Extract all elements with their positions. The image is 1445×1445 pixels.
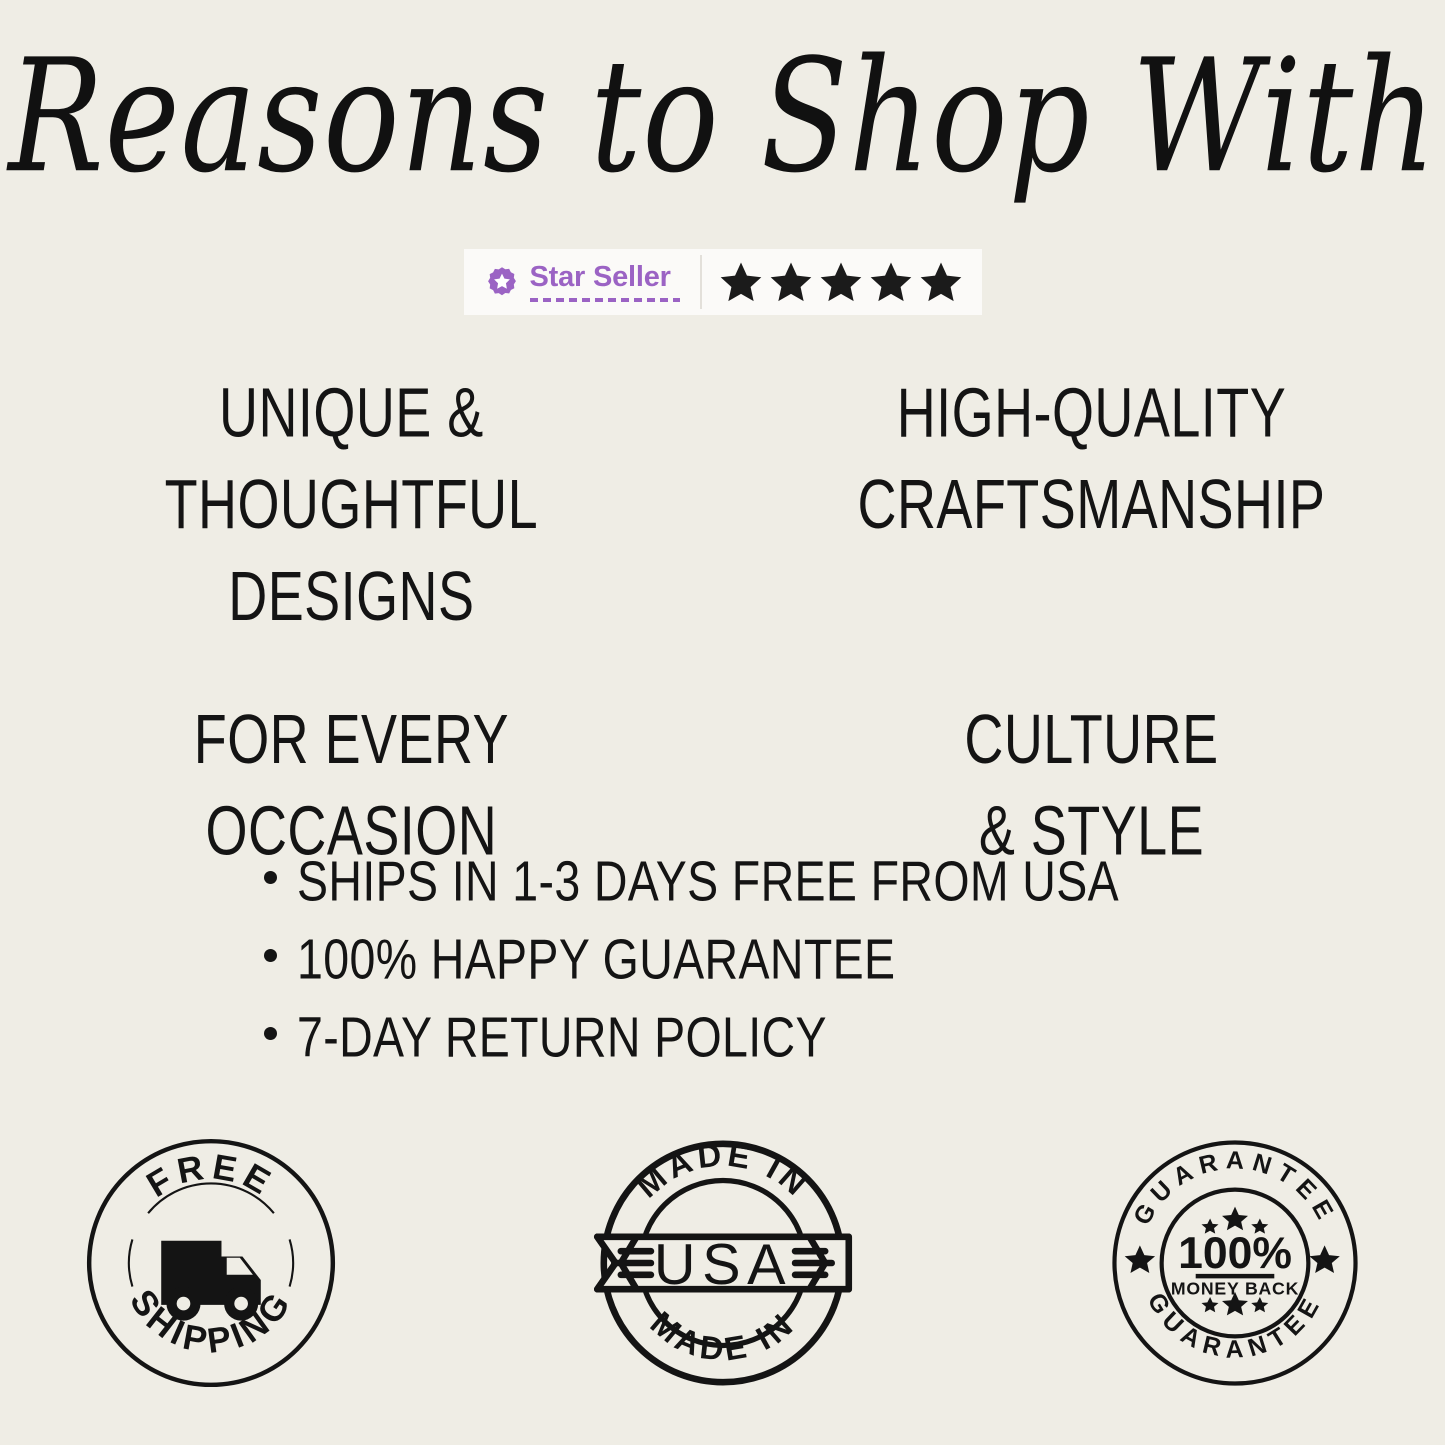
badge-center-caption: MONEY BACK (1170, 1278, 1298, 1298)
feature-line-1: CULTURE (964, 700, 1218, 778)
feature-high-quality: HIGH-QUALITY CRAFTSMANSHIP (759, 367, 1409, 643)
policy-list: SHIPS IN 1-3 DAYS FREE FROM USA 100% HAP… (0, 852, 1445, 1066)
list-item-label: 7-DAY RETURN POLICY (297, 1004, 827, 1070)
star-seller-rosette-icon (486, 266, 518, 298)
feature-line-2: CRAFTSMANSHIP (773, 459, 1409, 551)
badge-top-label: FREE (140, 1147, 281, 1205)
trust-badges: FREE SHIPPING MAD (0, 1132, 1445, 1394)
list-item-label: 100% HAPPY GUARANTEE (297, 926, 895, 992)
svg-text:FREE: FREE (140, 1147, 281, 1205)
badge-bottom-label: MADE IN (643, 1304, 801, 1368)
svg-text:MADE IN: MADE IN (643, 1304, 801, 1368)
star-seller-text-column: Star Seller (530, 263, 680, 302)
feature-line-1: UNIQUE & (219, 374, 484, 452)
promo-graphic: Reasons to Shop With Us Star Seller UNIQ… (0, 0, 1445, 1445)
made-in-usa-badge: MADE IN MADE IN USA (592, 1132, 854, 1394)
feature-line-1: HIGH-QUALITY (896, 374, 1285, 452)
feature-unique-designs: UNIQUE & THOUGHTFUL DESIGNS (36, 367, 686, 643)
star-icon (718, 259, 764, 305)
feature-line-2: THOUGHTFUL DESIGNS (36, 459, 666, 643)
star-icon (768, 259, 814, 305)
list-item-label: SHIPS IN 1-3 DAYS FREE FROM USA (297, 848, 1119, 914)
feature-grid: UNIQUE & THOUGHTFUL DESIGNS HIGH-QUALITY… (0, 386, 1445, 864)
list-item: SHIPS IN 1-3 DAYS FREE FROM USA (264, 852, 1181, 910)
list-item: 7-DAY RETURN POLICY (264, 1008, 1181, 1066)
badge-top-label: MADE IN (628, 1135, 816, 1204)
bullet-dot-icon (264, 949, 277, 962)
star-seller-dashed-underline (530, 298, 680, 302)
star-seller-label: Star Seller (530, 263, 671, 292)
list-item: 100% HAPPY GUARANTEE (264, 930, 1181, 988)
star-icon (918, 259, 964, 305)
bullet-dot-icon (264, 1027, 277, 1040)
star-seller-label-group: Star Seller (464, 249, 700, 315)
page-title: Reasons to Shop With Us (8, 36, 1445, 200)
svg-text:MADE IN: MADE IN (628, 1135, 816, 1204)
usa-ribbon: USA (597, 1233, 849, 1297)
star-seller-strip: Star Seller (464, 249, 982, 315)
page-title-container: Reasons to Shop With Us (0, 36, 1445, 170)
star-icon (868, 259, 914, 305)
badge-ribbon-label: USA (653, 1233, 791, 1297)
badge-center-value: 100% (1178, 1229, 1292, 1278)
delivery-truck-icon (161, 1241, 261, 1321)
bullet-dot-icon (264, 871, 277, 884)
feature-line-1: FOR EVERY (194, 700, 509, 778)
money-back-guarantee-badge: GUARANTEE GUARANTEE 100% MONEY BACK (1104, 1132, 1366, 1394)
free-shipping-badge: FREE SHIPPING (80, 1132, 342, 1394)
star-icon (818, 259, 864, 305)
rating-stars (702, 249, 982, 315)
policy-list-inner: SHIPS IN 1-3 DAYS FREE FROM USA 100% HAP… (264, 852, 1181, 1066)
